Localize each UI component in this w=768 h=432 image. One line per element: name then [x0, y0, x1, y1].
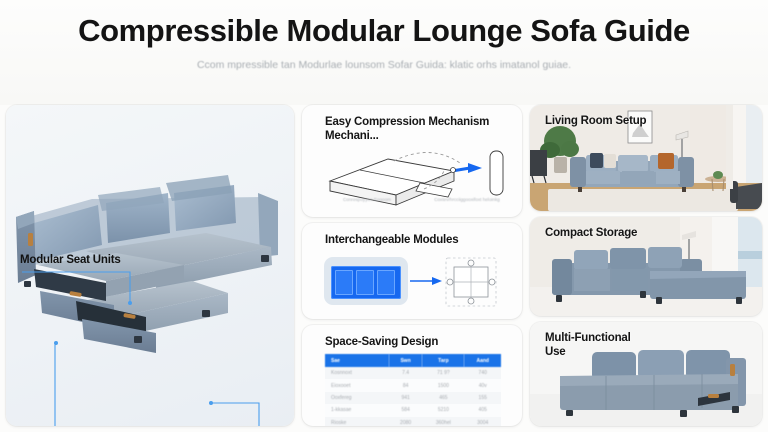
card-title-space-saving: Space-Saving Design: [325, 335, 515, 349]
table-cell: 1500: [422, 379, 464, 391]
table-row: Ooxfereg 941 465 155: [325, 392, 501, 404]
card-compact-storage: Compact Storage: [530, 217, 762, 316]
table-cell: 155: [464, 392, 501, 404]
module-segment: [377, 270, 395, 295]
table-cell: Kosnnoxt: [325, 367, 389, 379]
table-cell: 71 9?: [422, 367, 464, 379]
page-title: Compressible Modular Lounge Sofa Guide: [78, 14, 690, 48]
module-segment: [356, 270, 374, 295]
table-row: Kosnnoxt 7.4 71 9? 740: [325, 367, 501, 379]
table-cell: 3004: [464, 417, 501, 427]
table-cell: 40v: [464, 379, 501, 391]
table-cell: 740: [464, 367, 501, 379]
table-cell: 84: [389, 379, 422, 391]
caption-compression-right: Coxtev/hrcciiggooxifoxt heloinkg: [432, 197, 502, 204]
caption-compression-left: Conrespoyyon Eoooom: [332, 197, 402, 204]
card-title-compact-storage: Compact Storage: [545, 226, 637, 240]
table-header-cell: Aand: [464, 354, 501, 367]
card-compression-mechanism: Easy Compression Mechanism Mechani... Co…: [302, 105, 522, 217]
card-title-modules: Interchangeable Modules: [325, 233, 515, 247]
table-cell: 1-kkasae: [325, 404, 389, 416]
table-header-cell: Tarp: [422, 354, 464, 367]
table-cell: Ooxfereg: [325, 392, 389, 404]
table-cell: 2080: [389, 417, 422, 427]
modules-diagram: [324, 253, 500, 311]
card-title-multi-functional: Multi-Functional Use: [545, 331, 631, 359]
module-block-filled: [324, 257, 408, 305]
table-cell: 405: [464, 404, 501, 416]
table-cell: Rioske: [325, 417, 389, 427]
table-cell: 465: [422, 392, 464, 404]
module-segment: [335, 270, 353, 295]
table-cell: 5210: [422, 404, 464, 416]
modules-target-outline: [408, 253, 500, 311]
table-row: 1-kkasae 584 5210 405: [325, 404, 501, 416]
table-cell: 584: [389, 404, 422, 416]
annotation-modular-seat-units: Modular Seat Units: [20, 253, 121, 267]
table-header-cell: Sae: [325, 354, 389, 367]
table-row: Rioske 2080 360hel 3004: [325, 417, 501, 427]
space-saving-table: Sae Swn Tarp Aand Kosnnoxt 7.4 71 9? 740…: [325, 354, 501, 426]
table-cell: 7.4: [389, 367, 422, 379]
card-interchangeable-modules: Interchangeable Modules: [302, 223, 522, 319]
card-living-room-setup: Living Room Setup: [530, 105, 762, 211]
card-title-living-room: Living Room Setup: [545, 114, 646, 128]
table-row: Eioxooet 84 1500 40v: [325, 379, 501, 391]
table-cell: 941: [389, 392, 422, 404]
hero-sofa-panel: Modular Seat Units Adjustable Backrests …: [6, 105, 294, 426]
module-inner: [331, 266, 401, 299]
card-space-saving-design: Space-Saving Design Sae Swn Tarp Aand Ko…: [302, 325, 522, 426]
poster-header: Compressible Modular Lounge Sofa Guide C…: [0, 0, 768, 105]
table-cell: 360hel: [422, 417, 464, 427]
poster-root: Compressible Modular Lounge Sofa Guide C…: [0, 0, 768, 432]
card-multi-functional-use: Multi-Functional Use: [530, 322, 762, 426]
table-header-row: Sae Swn Tarp Aand: [325, 354, 501, 367]
table-header-cell: Swn: [389, 354, 422, 367]
page-subtitle: Ccom mpressible tan Modurlae lounsom Sof…: [197, 57, 571, 73]
card-title-compression: Easy Compression Mechanism Mechani...: [325, 115, 515, 144]
table-cell: Eioxooet: [325, 379, 389, 391]
